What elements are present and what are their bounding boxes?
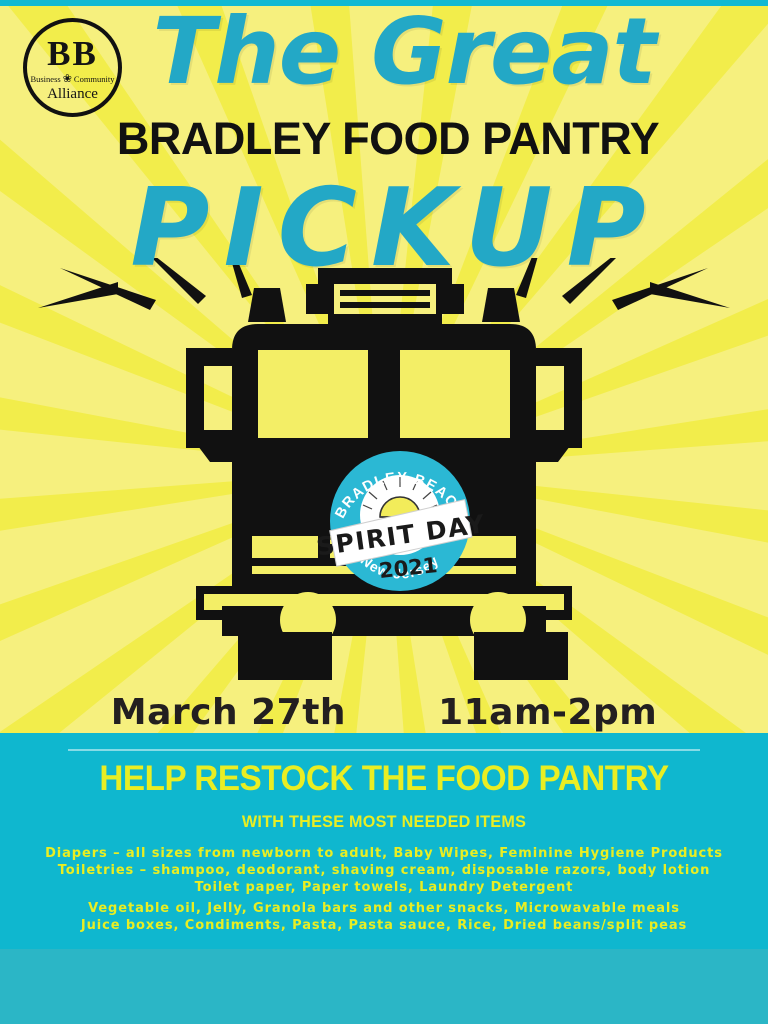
- spirit-day-badge-svg: BRADLEY BEACH New Jersey SPIRIT DAY 2021: [317, 447, 483, 595]
- needed-items-group-one: Diapers – all sizes from newborn to adul…: [0, 845, 768, 896]
- list-item: Vegetable oil, Jelly, Granola bars and o…: [0, 900, 768, 917]
- list-item: Toiletries – shampoo, deodorant, shaving…: [0, 862, 768, 879]
- logo-bottom-word: Alliance: [47, 87, 98, 102]
- logo-initials: BB: [47, 36, 98, 71]
- needed-items-group-two: Vegetable oil, Jelly, Granola bars and o…: [0, 900, 768, 934]
- needed-items-panel: HELP RESTOCK THE FOOD PANTRY WITH THESE …: [0, 733, 768, 949]
- list-item: Toilet paper, Paper towels, Laundry Dete…: [0, 879, 768, 896]
- event-date: March 27th: [111, 692, 346, 733]
- headline-script-bottom: PICKUP: [0, 175, 768, 283]
- logo-middle-line: Business ❀ Community: [30, 74, 114, 85]
- callout-subheading: WITH THESE MOST NEEDED ITEMS: [19, 813, 749, 830]
- list-item: Diapers – all sizes from newborn to adul…: [0, 845, 768, 862]
- business-community-alliance-logo: BB Business ❀ Community Alliance: [23, 18, 122, 117]
- logo-word-left: Business: [30, 75, 60, 84]
- seashell-icon: ❀: [63, 74, 72, 85]
- bradley-beach-spirit-day-badge: BRADLEY BEACH New Jersey SPIRIT DAY 2021: [317, 447, 483, 595]
- logo-word-right: Community: [74, 75, 115, 84]
- callout-heading: HELP RESTOCK THE FOOD PANTRY: [19, 761, 749, 796]
- top-accent-strip: [0, 0, 768, 6]
- headline-subject: BRADLEY FOOD PANTRY: [0, 116, 768, 161]
- list-item: Juice boxes, Condiments, Pasta, Pasta sa…: [0, 917, 768, 934]
- event-details-row: March 27th 11am-2pm: [0, 690, 768, 734]
- event-time: 11am-2pm: [438, 692, 657, 733]
- panel-divider-rule: [68, 749, 700, 751]
- bottom-filler-band: [0, 949, 768, 1024]
- poster-root: BB Business ❀ Community Alliance The Gre…: [0, 0, 768, 1024]
